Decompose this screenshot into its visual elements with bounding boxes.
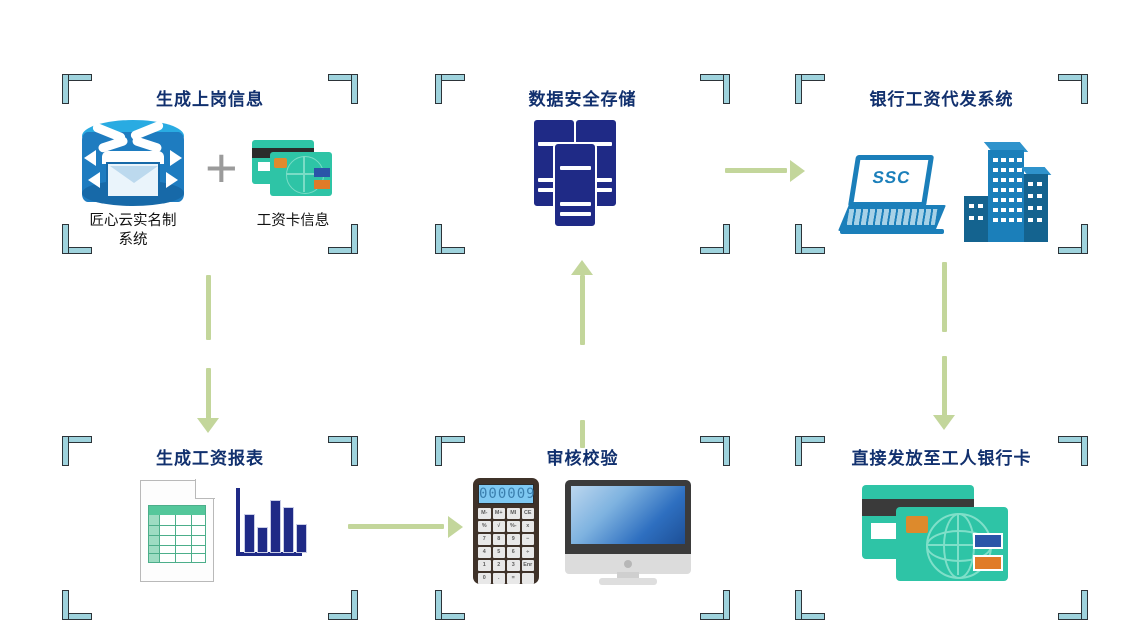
calculator-keypad[interactable]: M- M+ MI CE % √ %- x 7 8 9 − 4 5 6 ÷ 1 2… bbox=[478, 508, 534, 584]
arrow-head-down-5 bbox=[933, 415, 955, 430]
calc-key[interactable]: 0 bbox=[478, 573, 491, 584]
diagram-canvas: 生成上岗信息 匠心云实名制 系统 + 工资卡信息 bbox=[0, 0, 1143, 641]
office-buildings-icon bbox=[960, 150, 1054, 242]
calc-key[interactable]: 8 bbox=[493, 534, 506, 545]
calc-key[interactable]: %- bbox=[507, 521, 520, 532]
bracket-bottom-right bbox=[700, 590, 730, 620]
bank-cards-large-icon bbox=[862, 485, 1012, 591]
group-title-3: 银行工资代发系统 bbox=[795, 85, 1088, 110]
arrow-shaft-right-4 bbox=[725, 168, 787, 173]
bank-cards-icon bbox=[252, 140, 334, 198]
calc-key[interactable]: 3 bbox=[507, 560, 520, 571]
calc-key[interactable]: 1 bbox=[478, 560, 491, 571]
calc-key[interactable]: Enr bbox=[522, 560, 535, 571]
calc-key[interactable]: % bbox=[478, 521, 491, 532]
arrow-shaft-down-1b bbox=[206, 368, 211, 421]
arrow-head-right-4 bbox=[790, 160, 805, 182]
calc-key[interactable]: √ bbox=[493, 521, 506, 532]
bracket-bottom-right bbox=[328, 590, 358, 620]
calc-key[interactable]: x bbox=[522, 521, 535, 532]
item-label-1-1: 匠心云实名制 系统 bbox=[58, 212, 208, 250]
calc-key[interactable]: M- bbox=[478, 508, 491, 519]
calc-key[interactable]: 9 bbox=[507, 534, 520, 545]
calc-key[interactable]: 2 bbox=[493, 560, 506, 571]
calc-key[interactable]: 7 bbox=[478, 534, 491, 545]
group-title-4: 生成工资报表 bbox=[62, 444, 358, 469]
bracket-bottom-right bbox=[700, 224, 730, 254]
bar-chart-icon bbox=[236, 488, 302, 556]
server-stack-icon bbox=[532, 118, 632, 228]
laptop-screen-text: SSC bbox=[851, 168, 932, 188]
bracket-bottom-right bbox=[1058, 224, 1088, 254]
arrow-shaft-down-5a bbox=[942, 262, 947, 332]
bracket-bottom-left bbox=[795, 224, 825, 254]
spreadsheet-document-icon bbox=[140, 480, 214, 582]
arrow-head-up-3 bbox=[571, 260, 593, 275]
bracket-bottom-left bbox=[795, 590, 825, 620]
arrow-head-right-2 bbox=[448, 516, 463, 538]
calc-key[interactable]: 4 bbox=[478, 547, 491, 558]
arrow-shaft-down-1a bbox=[206, 275, 211, 340]
arrow-shaft-up-3b bbox=[580, 275, 585, 345]
calculator-icon: 000009 M- M+ MI CE % √ %- x 7 8 9 − 4 5 … bbox=[473, 478, 539, 584]
calc-key[interactable]: = bbox=[507, 573, 520, 584]
calculator-display: 000009 bbox=[478, 484, 534, 504]
arrow-shaft-down-5b bbox=[942, 356, 947, 418]
calc-key[interactable]: . bbox=[493, 573, 506, 584]
bracket-bottom-left bbox=[435, 590, 465, 620]
router-mail-icon bbox=[78, 118, 188, 210]
calc-key[interactable]: CE bbox=[522, 508, 535, 519]
bracket-bottom-left bbox=[62, 590, 92, 620]
group-title-1: 生成上岗信息 bbox=[62, 85, 358, 110]
laptop-icon: SSC bbox=[838, 155, 946, 237]
item-label-1-1-line2: 系统 bbox=[58, 231, 208, 250]
arrow-shaft-right-2 bbox=[348, 524, 444, 529]
group-title-6: 直接发放至工人银行卡 bbox=[795, 444, 1088, 469]
item-label-1-1-line1: 匠心云实名制 bbox=[58, 212, 208, 231]
item-label-1-2: 工资卡信息 bbox=[218, 212, 368, 231]
arrow-head-down-1 bbox=[197, 418, 219, 433]
calc-key[interactable] bbox=[522, 573, 535, 584]
calc-key[interactable]: 5 bbox=[493, 547, 506, 558]
group-title-2: 数据安全存储 bbox=[435, 85, 730, 110]
calc-key[interactable]: M+ bbox=[493, 508, 506, 519]
plus-icon: + bbox=[205, 140, 238, 196]
calc-key[interactable]: MI bbox=[507, 508, 520, 519]
calc-key[interactable]: ÷ bbox=[522, 547, 535, 558]
bracket-bottom-right bbox=[1058, 590, 1088, 620]
bracket-bottom-left bbox=[435, 224, 465, 254]
arrow-shaft-up-3a bbox=[580, 420, 585, 448]
calc-key[interactable]: 6 bbox=[507, 547, 520, 558]
calc-key[interactable]: − bbox=[522, 534, 535, 545]
desktop-monitor-icon bbox=[565, 480, 691, 586]
